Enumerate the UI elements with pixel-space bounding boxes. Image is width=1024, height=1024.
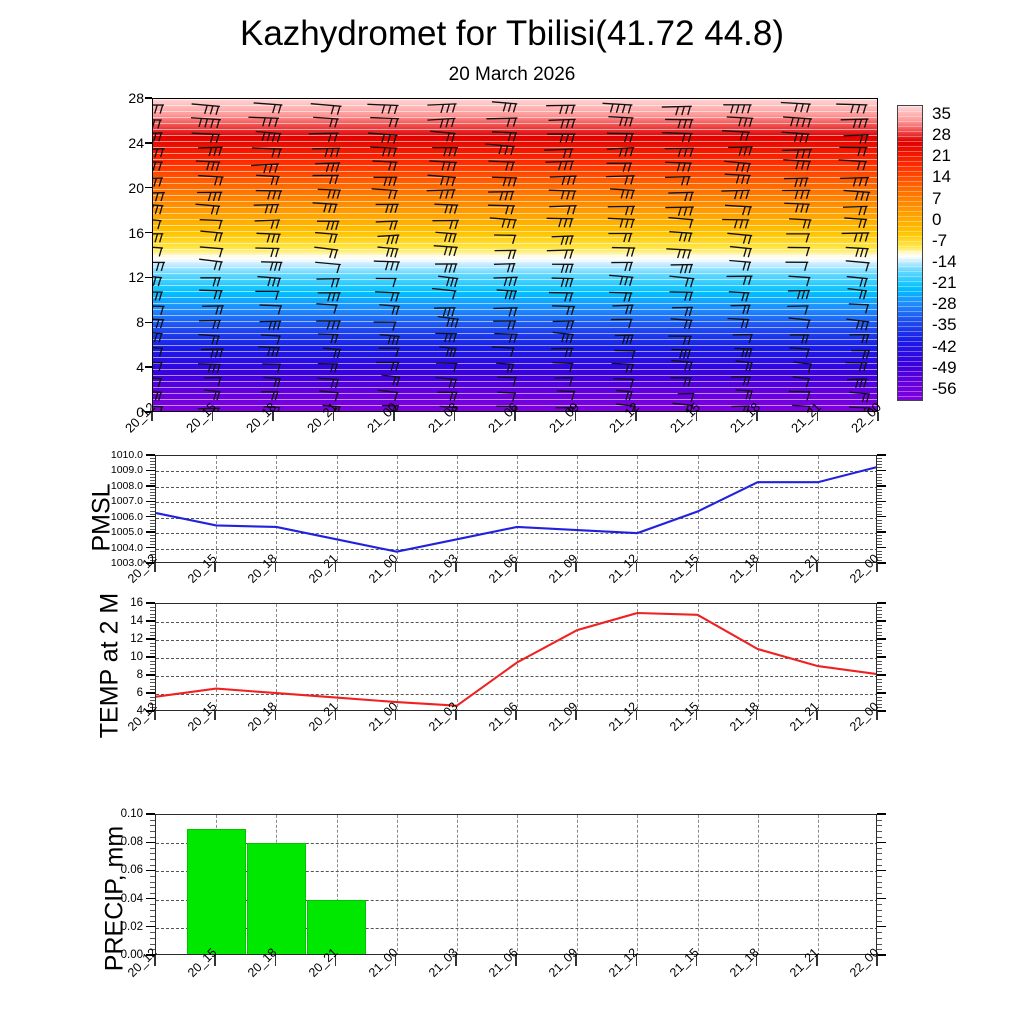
wind-barb — [493, 321, 516, 330]
precip-y-minor-tick — [150, 921, 155, 922]
wind-barb — [315, 262, 341, 273]
wind-barb — [724, 161, 751, 172]
pmsl-y-minor-tick — [877, 523, 882, 524]
pmsl-y-tick — [146, 485, 155, 486]
colorbar-tick-label: 21 — [932, 146, 951, 166]
pmsl-y-minor-tick — [877, 551, 882, 552]
pmsl-y-tick-label: 1009.0 — [97, 464, 143, 476]
wind-barb — [380, 335, 400, 345]
temp-y-minor-tick — [150, 643, 155, 644]
wind-barb — [153, 332, 163, 342]
wind-barb — [376, 362, 400, 371]
wind-barb — [313, 117, 339, 127]
pmsl-y-minor-tick — [150, 511, 155, 512]
precip-y-tick — [146, 870, 155, 871]
wind-barb — [851, 351, 869, 360]
precip-y-minor-tick — [150, 859, 155, 860]
precip-y-tick-label: 0.02 — [107, 921, 143, 933]
wind-barb — [367, 104, 398, 114]
page-subtitle: 20 March 2026 — [0, 64, 1024, 86]
pmsl-y-minor-tick — [877, 464, 882, 465]
precip-y-minor-tick — [150, 831, 155, 832]
precip-y-minor-tick — [150, 848, 155, 849]
wind-barb — [551, 348, 573, 357]
contour-y-tick-label: 16 — [106, 225, 144, 241]
wind-barb — [432, 289, 456, 300]
pmsl-y-tick-label: 1004.0 — [97, 542, 143, 554]
temp-line — [156, 613, 877, 706]
wind-barb — [198, 147, 223, 156]
precip-bar — [187, 829, 246, 955]
precip-bar — [247, 843, 306, 955]
precip-y-tick-right — [877, 842, 886, 843]
wind-barb — [316, 321, 341, 330]
wind-barb — [728, 147, 753, 156]
pmsl-y-minor-tick — [150, 507, 155, 508]
wind-barb — [196, 204, 221, 215]
pmsl-y-tick — [146, 516, 155, 517]
wind-barb — [736, 390, 753, 400]
wind-barb — [200, 231, 223, 242]
wind-barb — [374, 261, 400, 270]
wind-barb — [670, 378, 692, 387]
wind-barb — [373, 322, 396, 331]
colorbar-tick-label: 14 — [932, 167, 951, 187]
pmsl-y-minor-tick — [877, 492, 882, 493]
wind-barb — [488, 192, 514, 201]
wind-barb — [197, 192, 222, 201]
wind-barb — [608, 117, 633, 127]
wind-barb — [486, 118, 517, 127]
temp-y-minor-tick — [877, 661, 882, 662]
pmsl-y-minor-tick — [150, 483, 155, 484]
pmsl-y-minor-tick — [877, 483, 882, 484]
temp-y-tick — [146, 656, 155, 657]
pmsl-y-minor-tick — [877, 526, 882, 527]
precip-y-minor-tick — [877, 944, 882, 945]
wind-barb — [839, 147, 867, 156]
precip-y-minor-tick — [150, 853, 155, 854]
temp-y-tick — [146, 692, 155, 693]
wind-barb — [315, 233, 338, 243]
wind-barb — [608, 206, 635, 215]
pmsl-y-minor-tick — [150, 492, 155, 493]
precip-y-tick-right — [877, 898, 886, 899]
temp-y-minor-tick — [877, 653, 882, 654]
precip-y-tick-label: 0.04 — [107, 893, 143, 905]
wind-barb — [312, 148, 340, 157]
wind-barb — [616, 391, 633, 401]
wind-barb — [840, 178, 869, 187]
pmsl-y-minor-tick — [877, 529, 882, 530]
pmsl-y-tick-right — [877, 501, 886, 502]
wind-barb — [665, 162, 692, 171]
contour-y-tick-label: 24 — [106, 135, 144, 151]
wind-barb — [733, 335, 753, 344]
temp-y-minor-tick — [877, 689, 882, 690]
wind-barb — [793, 377, 810, 387]
wind-barb — [153, 275, 162, 286]
contour-y-tick-label: 4 — [106, 359, 144, 375]
pmsl-y-tick — [146, 547, 155, 548]
wind-barb — [731, 305, 751, 314]
pmsl-y-minor-tick — [150, 514, 155, 515]
wind-barb — [671, 319, 693, 329]
wind-barb — [843, 206, 868, 215]
temp-y-tick-right — [877, 638, 886, 639]
wind-barb — [842, 233, 870, 242]
wind-barb — [789, 348, 810, 358]
wind-barb — [722, 220, 749, 229]
wind-barb — [153, 218, 162, 229]
precip-y-tick-label: 0.10 — [107, 808, 143, 820]
contour-y-tick — [145, 187, 152, 188]
wind-barb — [153, 178, 163, 187]
wind-barb — [256, 131, 282, 142]
wind-barb — [493, 277, 517, 286]
temp-y-minor-tick — [150, 653, 155, 654]
precip-y-minor-tick — [877, 820, 882, 821]
pmsl-y-minor-tick — [150, 538, 155, 539]
wind-barb — [725, 205, 752, 215]
wind-barb — [256, 191, 282, 200]
temp-y-tick-label: 6 — [117, 687, 143, 699]
wind-barb — [313, 203, 338, 213]
precip-y-minor-tick — [150, 825, 155, 826]
colorbar-tick-label: 28 — [932, 125, 951, 145]
temp2m-line-series — [156, 604, 877, 711]
contour-y-tick — [145, 322, 152, 323]
wind-barb — [608, 218, 635, 228]
pmsl-y-minor-tick — [877, 489, 882, 490]
wind-barb — [547, 134, 576, 143]
wind-barb — [201, 349, 223, 358]
wind-barb — [553, 321, 575, 330]
wind-barb — [318, 334, 339, 343]
temp-y-minor-tick — [150, 632, 155, 633]
wind-barb — [196, 161, 220, 171]
pmsl-y-minor-tick — [150, 461, 155, 462]
pmsl-y-tick-right — [877, 516, 886, 517]
wind-barb — [375, 292, 400, 302]
grid-line-v — [457, 815, 458, 955]
wind-barb — [722, 131, 750, 141]
pmsl-y-minor-tick — [150, 458, 155, 459]
wind-barb — [488, 161, 514, 171]
wind-barb — [665, 119, 693, 128]
pmsl-y-minor-tick — [877, 504, 882, 505]
wind-barb — [255, 291, 279, 300]
temp-y-minor-tick — [150, 610, 155, 611]
temp-y-tick-right — [877, 656, 886, 657]
wind-barb — [729, 260, 751, 270]
wind-barb — [376, 221, 398, 230]
wind-barb — [609, 275, 633, 285]
precip-y-minor-tick — [877, 853, 882, 854]
precip-y-minor-tick — [877, 904, 882, 905]
wind-barb — [191, 118, 221, 128]
wind-barb — [204, 390, 220, 400]
wind-barb — [251, 164, 279, 173]
wind-barb — [255, 220, 280, 229]
wind-barb — [434, 246, 458, 256]
pmsl-y-tick-label: 1006.0 — [97, 511, 143, 523]
precip-y-minor-tick — [150, 876, 155, 877]
temp-y-minor-tick — [877, 650, 882, 651]
wind-barb — [672, 307, 693, 316]
temp-y-tick-label: 14 — [117, 615, 143, 627]
wind-barb — [665, 148, 694, 157]
temp-y-tick-label: 8 — [117, 669, 143, 681]
wind-barb — [672, 350, 691, 359]
wind-barbs-layer — [153, 99, 877, 411]
wind-barb — [846, 319, 869, 330]
wind-barb — [192, 104, 220, 115]
contour-y-tick-label: 20 — [106, 180, 144, 196]
wind-barb — [434, 204, 458, 213]
wind-barb — [314, 247, 338, 258]
wind-barb — [668, 192, 693, 201]
pmsl-y-minor-tick — [877, 507, 882, 508]
temp-y-minor-tick — [150, 671, 155, 672]
pmsl-y-tick-right — [877, 547, 886, 548]
pmsl-y-minor-tick — [150, 529, 155, 530]
contour-y-tick-label: 12 — [106, 269, 144, 285]
contour-y-tick — [145, 277, 152, 278]
wind-barb — [790, 335, 809, 344]
wind-barb — [153, 162, 163, 171]
wind-barb — [727, 276, 753, 285]
wind-barb — [323, 348, 341, 358]
wind-barb — [782, 149, 812, 158]
wind-barb — [607, 163, 633, 172]
wind-barb — [153, 348, 163, 357]
wind-barb — [552, 264, 574, 273]
precip-y-minor-tick — [877, 887, 882, 888]
wind-barb — [153, 234, 163, 243]
page-title: Kazhydromet for Tbilisi(41.72 44.8) — [0, 14, 1024, 54]
wind-barb — [610, 189, 635, 199]
pmsl-y-tick-right — [877, 531, 886, 532]
colorbar-tick-label: 35 — [932, 104, 951, 124]
wind-barb — [261, 335, 281, 345]
temp-y-minor-tick — [877, 700, 882, 701]
wind-barb — [727, 233, 752, 244]
pmsl-y-minor-tick — [150, 523, 155, 524]
wind-barb — [788, 291, 810, 300]
wind-barb — [736, 361, 753, 371]
temp-y-minor-tick — [150, 646, 155, 647]
contour-y-tick — [145, 97, 152, 98]
temp-y-minor-tick — [150, 614, 155, 615]
pmsl-y-minor-tick — [150, 498, 155, 499]
colorbar-tick-label: -56 — [932, 379, 957, 399]
precip-y-minor-tick — [877, 859, 882, 860]
colorbar-tick-label: -21 — [932, 273, 957, 293]
wind-barb — [153, 193, 165, 202]
grid-line-v — [637, 815, 638, 955]
temp-y-minor-tick — [150, 617, 155, 618]
temperature-colorbar — [897, 105, 923, 401]
temp-y-tick-right — [877, 620, 886, 621]
wind-barb — [257, 277, 281, 287]
pmsl-y-minor-tick — [150, 526, 155, 527]
colorbar-tick-label: -7 — [932, 231, 947, 251]
wind-barb — [428, 175, 456, 186]
wind-barb — [839, 160, 867, 170]
wind-barb — [546, 105, 575, 114]
grid-line-v — [397, 815, 398, 955]
precip-y-minor-tick — [877, 921, 882, 922]
wind-barb — [612, 305, 633, 314]
temp-y-minor-tick — [877, 668, 882, 669]
wind-barb — [153, 377, 162, 387]
wind-barb — [427, 190, 456, 199]
wind-barb — [248, 117, 279, 127]
wind-barb — [258, 347, 280, 357]
wind-barb — [492, 132, 517, 142]
wind-barb — [729, 292, 750, 302]
pmsl-y-minor-tick — [877, 520, 882, 521]
wind-barb — [608, 233, 632, 242]
wind-barb — [846, 247, 869, 257]
wind-barb — [316, 304, 337, 314]
temp-y-tick — [146, 638, 155, 639]
wind-barb — [552, 236, 574, 245]
wind-barb — [260, 305, 282, 314]
wind-barb — [849, 304, 869, 313]
pmsl-y-tick-label: 1010.0 — [97, 449, 143, 461]
wind-barb — [847, 277, 868, 288]
wind-barb — [378, 235, 400, 244]
wind-barb — [494, 235, 516, 244]
precip-y-tick — [146, 813, 155, 814]
wind-barb — [786, 234, 810, 243]
wind-barb — [432, 220, 459, 229]
wind-barb — [662, 106, 692, 115]
pmsl-y-minor-tick — [877, 458, 882, 459]
precip-y-tick — [146, 898, 155, 899]
precip-y-tick-right — [877, 870, 886, 871]
wind-barb — [370, 147, 397, 157]
wind-barb — [255, 248, 279, 257]
wind-barb — [782, 132, 810, 142]
wind-barb — [603, 103, 633, 113]
wind-barb — [611, 262, 633, 271]
precip-y-minor-tick — [877, 916, 882, 917]
wind-barb — [368, 133, 398, 144]
weather-forecast-figure: Kazhydromet for Tbilisi(41.72 44.8) 20 M… — [0, 0, 1024, 1024]
wind-barb — [429, 161, 457, 171]
precip-y-minor-tick — [150, 837, 155, 838]
wind-barb — [153, 292, 163, 301]
colorbar-tick-label: -49 — [932, 358, 957, 378]
pmsl-y-minor-tick — [877, 477, 882, 478]
temp-y-minor-tick — [150, 628, 155, 629]
pmsl-y-minor-tick — [150, 467, 155, 468]
wind-barb — [550, 176, 577, 185]
wind-barb — [438, 317, 459, 328]
wind-barb — [552, 306, 575, 315]
precip-y-tick-label: 0.06 — [107, 864, 143, 876]
pmsl-y-tick — [146, 531, 155, 532]
temp-y-tick-label: 10 — [117, 651, 143, 663]
wind-barb — [318, 293, 341, 302]
temp-y-tick-right — [877, 692, 886, 693]
wind-barb — [668, 336, 691, 345]
colorbar-tick-label: 0 — [932, 210, 941, 230]
wind-barb — [607, 133, 634, 142]
upper-air-contour-panel — [152, 98, 878, 412]
wind-barb — [153, 246, 163, 256]
precip-y-minor-tick — [877, 938, 882, 939]
wind-barb — [662, 133, 693, 142]
wind-barb — [552, 278, 574, 287]
precip-y-minor-tick — [150, 910, 155, 911]
temp2m-plot-area — [155, 603, 877, 711]
precip-y-tick — [146, 842, 155, 843]
wind-barb — [309, 133, 339, 142]
temp-y-minor-tick — [877, 671, 882, 672]
wind-barb — [665, 207, 693, 216]
wind-barb — [613, 379, 634, 388]
wind-barb — [192, 133, 221, 143]
wind-barb — [200, 247, 223, 257]
temp-y-minor-tick — [877, 625, 882, 626]
wind-barb — [549, 206, 577, 215]
grid-line-v — [577, 815, 578, 955]
precip-y-minor-tick — [150, 916, 155, 917]
temp-y-minor-tick — [150, 607, 155, 608]
wind-barb — [153, 306, 165, 315]
precip-y-tick-label: 0.08 — [107, 836, 143, 848]
wind-barb — [432, 148, 458, 157]
temp-y-minor-tick — [150, 679, 155, 680]
precip-y-minor-tick — [877, 865, 882, 866]
pmsl-y-minor-tick — [150, 535, 155, 536]
temp-y-tick-label: 12 — [117, 633, 143, 645]
contour-y-tick-label: 28 — [106, 90, 144, 106]
wind-barb — [153, 149, 165, 158]
wind-barb — [731, 377, 751, 386]
wind-barb — [788, 247, 810, 256]
pmsl-y-minor-tick — [150, 480, 155, 481]
wind-barb — [198, 176, 223, 186]
wind-barb — [783, 160, 811, 170]
precip-y-minor-tick — [877, 882, 882, 883]
precip-y-minor-tick — [877, 932, 882, 933]
wind-barb — [153, 204, 163, 214]
precip-y-minor-tick — [150, 887, 155, 888]
wind-barb — [438, 276, 458, 287]
precip-y-minor-tick — [877, 949, 882, 950]
pmsl-y-minor-tick — [150, 477, 155, 478]
pmsl-y-minor-tick — [877, 461, 882, 462]
wind-barb — [728, 318, 750, 328]
wind-barb — [609, 292, 632, 301]
wind-barb — [435, 232, 456, 242]
wind-barb — [614, 350, 635, 359]
precip-y-minor-tick — [150, 893, 155, 894]
temp-y-tick-right — [877, 674, 886, 675]
pmsl-y-minor-tick — [150, 520, 155, 521]
wind-barb — [557, 391, 576, 400]
pmsl-y-minor-tick — [877, 544, 882, 545]
wind-barb — [377, 247, 398, 257]
wind-barb — [843, 190, 870, 200]
wind-barb — [198, 335, 219, 345]
wind-barb — [789, 318, 811, 329]
